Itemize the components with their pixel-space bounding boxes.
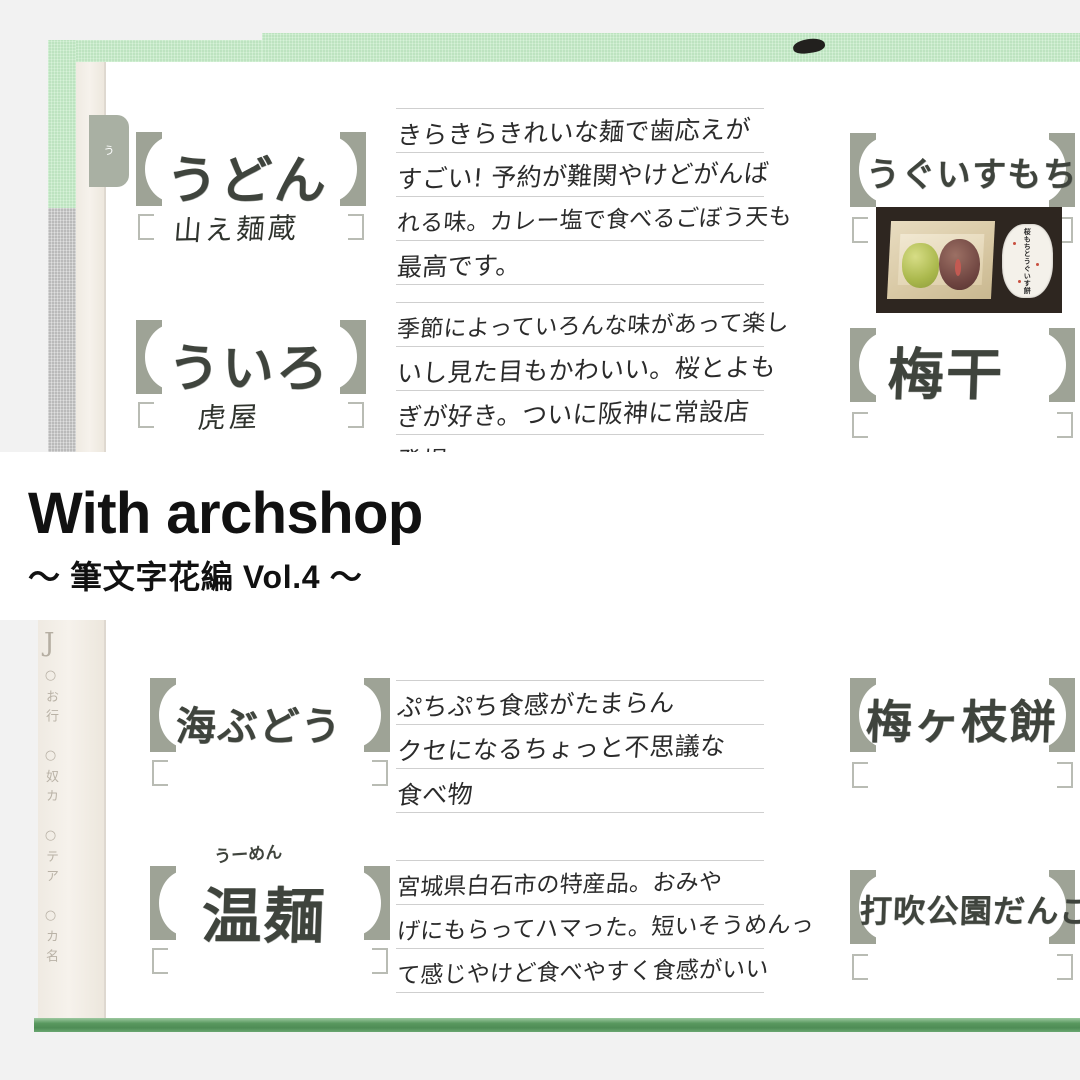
entry-utsubukikoen-dango[interactable]: 打吹公園だんご (850, 860, 1075, 980)
notebook-photo-top: う うどん 山え麺蔵 きらきらきれいな麺で歯応えが すごい! 予約が難関やけどが… (0, 0, 1080, 452)
note-umen: 宮城県白石市の特産品。おみや げにもらってハマった。短いそうめんっ て感じやけど… (396, 848, 764, 993)
index-tab-label: う (104, 146, 115, 157)
note-line: きらきらきれいな麺で歯応えが (396, 110, 752, 152)
notebook-photo-bottom: J ○お行 ○奴カ ○テア ○カ名 海ぶどう ぷちぷち食感がたまらん クセになる… (0, 620, 1080, 1080)
page-subtitle: 〜 筆文字花編 Vol.4 〜 (28, 552, 362, 598)
cover-texture (48, 208, 76, 452)
rule-line (396, 992, 764, 993)
note-line: 季節によっていろんな味があって楽し (396, 303, 790, 344)
corner-bracket-right-icon (348, 402, 364, 428)
cover-edge-left (48, 40, 76, 210)
index-column: ○お行 ○奴カ ○テア ○カ名 (44, 668, 57, 998)
rule-line (396, 196, 764, 197)
rule-line (396, 284, 764, 285)
corner-bracket-right-icon (1057, 954, 1073, 980)
mochi-photo: 桜もちとうぐいす餅 (876, 207, 1062, 313)
entry-headword: 海ぶどう (175, 694, 343, 752)
entry-uguisumochi[interactable]: うぐいすもち 桜もちとうぐいす餅 (850, 125, 1075, 310)
note-line: いし見た目もかわいい。桜とよも (396, 347, 777, 390)
entry-headword: 温麺 (200, 868, 328, 955)
rule-line (396, 390, 764, 391)
note-line: て感じやけど食べやすく食感がいい (396, 949, 770, 990)
index-tab-u[interactable]: う (89, 115, 129, 187)
note-umibudou: ぷちぷち食感がたまらん クセになるちょっと不思議な 食べ物 (396, 668, 764, 813)
corner-bracket-right-icon (1057, 412, 1073, 438)
entry-udon[interactable]: うどん 山え麺蔵 (136, 118, 366, 248)
uguisu-mochi (902, 243, 939, 288)
bracket-left-icon (136, 132, 162, 206)
entry-umeboshi[interactable]: 梅干 (850, 320, 1075, 440)
entry-uiro[interactable]: ういろ 虎屋 (136, 308, 366, 438)
corner-bracket-right-icon (348, 214, 364, 240)
note-line: 食べ物 (396, 775, 474, 812)
corner-bracket-left-icon (852, 412, 868, 438)
bracket-left-icon (150, 678, 176, 752)
note-line: 最高です。 (396, 246, 522, 284)
entry-headword: 梅干 (887, 330, 1006, 411)
corner-bracket-left-icon (152, 948, 168, 974)
bracket-right-icon (340, 320, 366, 394)
rule-line (396, 152, 764, 153)
card-speck (1036, 263, 1039, 266)
photo-card: 桜もちとうぐいす餅 (1002, 224, 1052, 298)
note-line: ぷちぷち食感がたまらん (396, 683, 676, 724)
rule-line (396, 724, 764, 725)
note-line: クセになるちょっと不思議な (396, 726, 727, 768)
bracket-right-icon (1049, 328, 1075, 402)
note-uiro: 季節によっていろんな味があって楽し いし見た目もかわいい。桜とよも ぎが好き。つ… (396, 290, 764, 452)
cover-texture (262, 33, 1080, 62)
title-overlay: With archshop 〜 筆文字花編 Vol.4 〜 (0, 452, 1080, 620)
bracket-left-icon (136, 320, 162, 394)
entry-headword: 打吹公園だんご (859, 886, 1080, 932)
entry-headword: うどん (165, 138, 330, 213)
note-line: げにもらってハマった。短いそうめんっ (396, 905, 815, 946)
card-speck (1013, 242, 1016, 245)
rule-line (396, 240, 764, 241)
photo-card-text: 桜もちとうぐいす餅 (1002, 224, 1052, 298)
entry-headword: うぐいすもち (865, 147, 1079, 196)
rule-line (396, 434, 764, 435)
cover-edge-top-second (262, 33, 1080, 62)
note-line: 宮城県白石市の特産品。おみや (396, 862, 724, 902)
entry-umegaemochi[interactable]: 梅ヶ枝餅 (850, 668, 1075, 788)
entry-shop: 虎屋 (196, 395, 262, 437)
entry-shop: 山え麺蔵 (172, 206, 301, 249)
note-line: ぎが好き。ついに阪神に常設店 (396, 392, 751, 434)
bracket-right-icon (340, 132, 366, 206)
corner-bracket-right-icon (372, 760, 388, 786)
rule-line (396, 812, 764, 813)
rule-line (396, 108, 764, 109)
rule-line (396, 680, 764, 681)
corner-bracket-left-icon (152, 760, 168, 786)
entry-umibudou[interactable]: 海ぶどう (150, 668, 390, 798)
bracket-right-icon (364, 866, 390, 940)
sakura-mochi (939, 239, 980, 290)
rule-line (396, 302, 764, 303)
corner-bracket-left-icon (852, 954, 868, 980)
index-letter-j: J (44, 628, 54, 658)
corner-bracket-right-icon (1057, 762, 1073, 788)
rule-line (396, 904, 764, 905)
page-title: With archshop (28, 480, 423, 547)
entry-umen[interactable]: うーめん 温麺 (150, 838, 390, 978)
corner-bracket-left-icon (852, 217, 868, 243)
bracket-left-icon (150, 866, 176, 940)
rule-line (396, 346, 764, 347)
card-speck (1018, 280, 1021, 283)
note-line: れる味。カレー塩で食べるごぼう天も (396, 197, 793, 238)
entry-reading: うーめん (213, 838, 283, 868)
cover-edge-left-gray (48, 208, 76, 452)
book-edge-bottom (34, 1018, 1080, 1032)
corner-bracket-left-icon (138, 214, 154, 240)
bracket-right-icon (364, 678, 390, 752)
bracket-left-icon (850, 328, 876, 402)
corner-bracket-right-icon (372, 948, 388, 974)
entry-headword: ういろ (167, 326, 332, 401)
corner-bracket-left-icon (138, 402, 154, 428)
entry-headword: 梅ヶ枝餅 (865, 686, 1059, 752)
note-udon: きらきらきれいな麺で歯応えが すごい! 予約が難関やけどがんば れる味。カレー塩… (396, 100, 764, 290)
rule-line (396, 768, 764, 769)
cover-texture (48, 40, 76, 210)
rule-line (396, 860, 764, 861)
corner-bracket-left-icon (852, 762, 868, 788)
note-line: すごい! 予約が難関やけどがんば (396, 153, 770, 196)
note-line: 登場 (396, 441, 449, 452)
rule-line (396, 948, 764, 949)
